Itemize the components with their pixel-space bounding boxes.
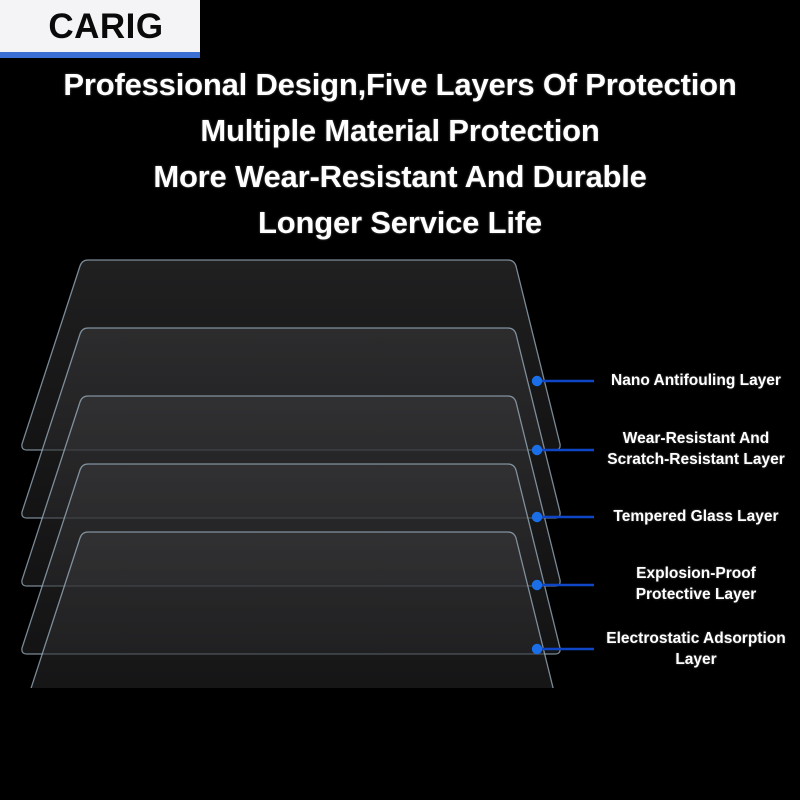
- product-infographic: CARIG Professional Design,Five Layers Of…: [0, 0, 800, 800]
- layer-label-4-line2: Protective Layer: [596, 584, 796, 605]
- brand-accent-bar: [0, 52, 200, 58]
- layer-label-3: Tempered Glass Layer: [596, 506, 796, 527]
- brand-logo-plate: CARIG: [0, 0, 200, 52]
- layer-label-4: Explosion-Proof Protective Layer: [596, 563, 796, 605]
- headline-block: Professional Design,Five Layers Of Prote…: [0, 62, 800, 246]
- headline-line-4: Longer Service Life: [0, 200, 800, 246]
- layer-marker-1: [532, 376, 542, 386]
- headline-line-1: Professional Design,Five Layers Of Prote…: [0, 62, 800, 108]
- brand-name: CARIG: [26, 9, 173, 44]
- layer-label-2-line1: Wear-Resistant And: [596, 428, 796, 449]
- layer-label-2-line2: Scratch-Resistant Layer: [596, 449, 796, 470]
- layer-marker-5: [532, 644, 542, 654]
- headline-line-2: Multiple Material Protection: [0, 108, 800, 154]
- layer-marker-3: [532, 512, 542, 522]
- layer-label-1-line1: Nano Antifouling Layer: [596, 370, 796, 391]
- layer-label-5-line1: Electrostatic Adsorption: [596, 628, 796, 649]
- glass-layer-5: [22, 532, 560, 688]
- layer-label-5: Electrostatic Adsorption Layer: [596, 628, 796, 670]
- layer-label-2: Wear-Resistant And Scratch-Resistant Lay…: [596, 428, 796, 470]
- headline-line-3: More Wear-Resistant And Durable: [0, 154, 800, 200]
- layer-label-3-line1: Tempered Glass Layer: [596, 506, 796, 527]
- brand-logo: CARIG: [0, 0, 200, 58]
- layer-marker-2: [532, 445, 542, 455]
- layer-label-5-line2: Layer: [596, 649, 796, 670]
- layer-label-4-line1: Explosion-Proof: [596, 563, 796, 584]
- layer-marker-4: [532, 580, 542, 590]
- layer-label-1: Nano Antifouling Layer: [596, 370, 796, 391]
